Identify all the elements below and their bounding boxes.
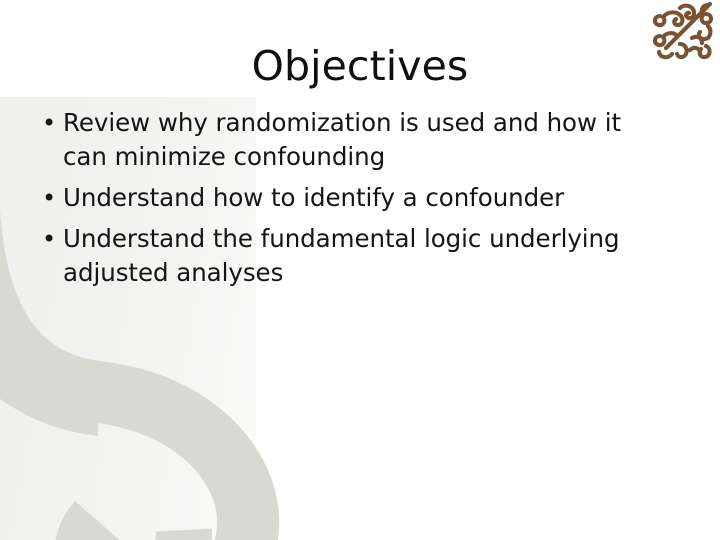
bullet-text: Review why randomization is used and how… [63, 106, 629, 174]
bullet-list: • Review why randomization is used and h… [36, 106, 656, 297]
list-item: • Review why randomization is used and h… [36, 106, 656, 174]
bullet-point-icon: • [36, 181, 63, 215]
presentation-slide: Objectives • Review why randomization is… [0, 0, 720, 540]
slide-title: Objectives [0, 41, 720, 91]
list-item: • Understand the fundamental logic under… [36, 222, 656, 290]
bullet-point-icon: • [36, 106, 63, 140]
list-item: • Understand how to identify a confounde… [36, 181, 656, 215]
bullet-point-icon: • [36, 222, 63, 256]
bullet-text: Understand how to identify a confounder [63, 181, 629, 215]
bullet-text: Understand the fundamental logic underly… [63, 222, 629, 290]
